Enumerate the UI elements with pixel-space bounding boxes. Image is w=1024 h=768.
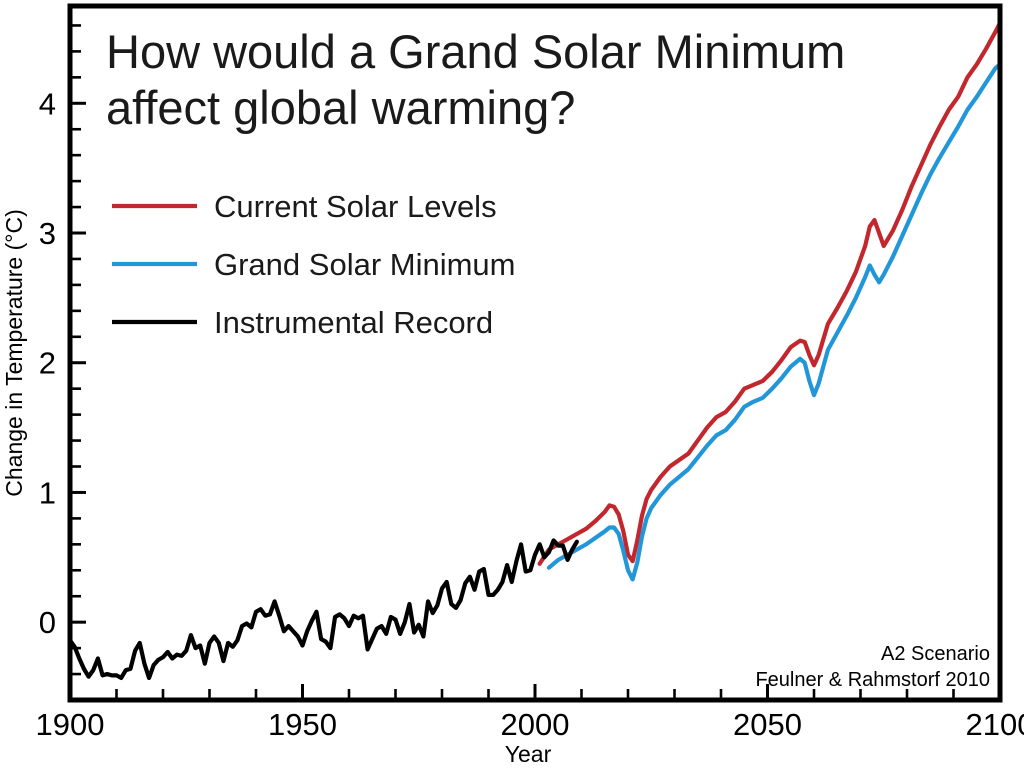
y-axis-title: Change in Temperature (°C) (1, 209, 27, 496)
annotation-scenario: A2 Scenario (881, 643, 990, 665)
x-tick-label: 1900 (36, 707, 105, 742)
x-tick-label: 2050 (733, 707, 802, 742)
y-tick-label: 0 (39, 605, 56, 640)
legend-label-2: Instrumental Record (214, 305, 493, 340)
legend-label-0: Current Solar Levels (214, 189, 497, 224)
y-tick-label: 4 (39, 86, 56, 121)
y-tick-label: 3 (39, 216, 56, 251)
y-tick-label: 1 (39, 475, 56, 510)
x-tick-label: 1950 (268, 707, 337, 742)
chart-title-line-1: How would a Grand Solar Minimum (106, 25, 845, 78)
y-tick-label: 2 (39, 346, 56, 381)
x-tick-label: 2000 (501, 707, 570, 742)
x-axis-title: Year (505, 741, 552, 767)
x-tick-label: 2100 (966, 707, 1024, 742)
annotation-citation: Feulner & Rahmstorf 2010 (755, 669, 990, 691)
temperature-projection-chart: How would a Grand Solar Minimum affect g… (0, 0, 1024, 768)
legend-label-1: Grand Solar Minimum (214, 247, 515, 282)
chart-page: How would a Grand Solar Minimum affect g… (0, 0, 1024, 768)
chart-title-line-2: affect global warming? (106, 81, 575, 134)
